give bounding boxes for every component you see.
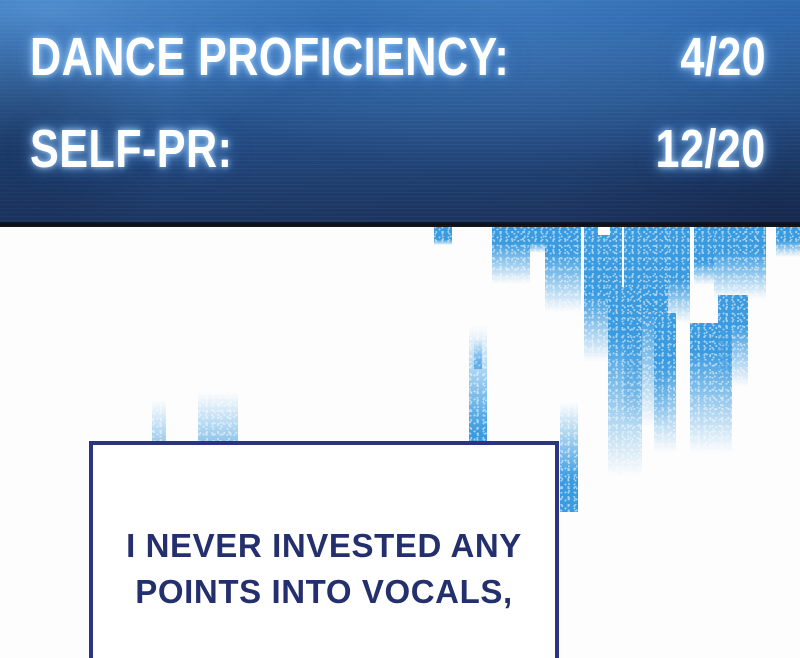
drip-bar: [608, 287, 642, 477]
drip-bar: [434, 227, 452, 245]
drip-bar: [545, 227, 581, 312]
status-window: DANCE PROFICIENCY: 4/20 SELF-PR: 12/20: [0, 0, 800, 227]
drip-bar: [624, 227, 668, 427]
drip-bar: [152, 400, 166, 445]
drip-bar: [714, 227, 766, 299]
speech-bubble: I NEVER INVESTED ANY POINTS INTO VOCALS,: [89, 441, 559, 658]
drip-bar: [527, 227, 545, 253]
stat-label-self-pr: SELF-PR:: [30, 122, 232, 176]
drip-bar: [474, 339, 482, 369]
stat-value-dance-proficiency: 4/20: [680, 30, 766, 84]
speech-bubble-text: I NEVER INVESTED ANY POINTS INTO VOCALS,: [93, 523, 555, 615]
drip-bar: [584, 227, 622, 362]
drip-bar: [776, 227, 800, 257]
drip-bar: [198, 392, 238, 445]
drip-bar: [560, 402, 578, 512]
stat-value-self-pr: 12/20: [656, 122, 766, 176]
speech-bubble-line-1: I NEVER INVESTED ANY: [111, 523, 537, 569]
status-window-bottom-edge: [0, 222, 800, 227]
stat-label-dance-proficiency: DANCE PROFICIENCY:: [30, 30, 509, 84]
stat-row-dance-proficiency: DANCE PROFICIENCY: 4/20: [0, 30, 800, 84]
drip-bar: [654, 313, 676, 453]
drip-bar: [690, 323, 732, 453]
speech-bubble-line-2: POINTS INTO VOCALS,: [111, 569, 537, 615]
drip-bar: [492, 227, 530, 284]
webtoon-panel: DANCE PROFICIENCY: 4/20 SELF-PR: 12/20: [0, 0, 800, 658]
drip-bar: [694, 227, 714, 285]
stat-row-self-pr: SELF-PR: 12/20: [0, 122, 800, 176]
drip-bar: [668, 227, 690, 323]
drip-bar: [718, 295, 748, 387]
drip-bar: [598, 227, 610, 235]
